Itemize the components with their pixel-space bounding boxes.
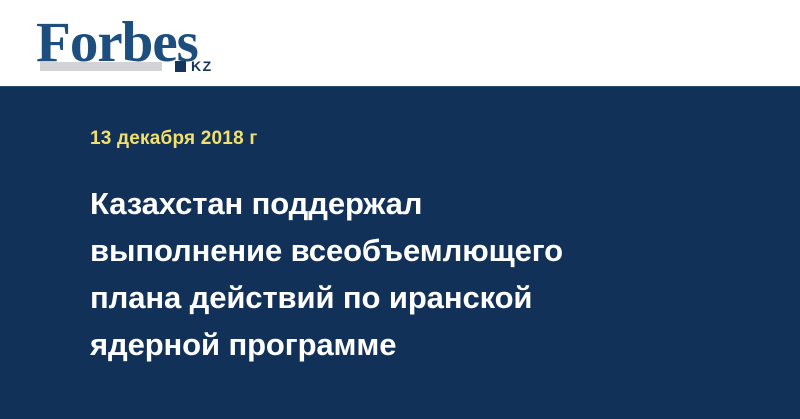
logo-underline-rule	[40, 62, 162, 71]
logo-locale-suffix: KZ	[191, 59, 213, 73]
site-header: Forbes KZ	[0, 0, 800, 87]
square-bullet-icon	[175, 61, 186, 72]
forbes-kz-logo[interactable]: Forbes KZ	[36, 14, 241, 76]
page-title-line: ядерной программе	[90, 321, 710, 368]
article-hero-page: Forbes KZ 13 декабря 2018 г Казахстан по…	[0, 0, 800, 419]
page-title: Казахстан поддержал выполнение всеобъемл…	[90, 180, 710, 368]
page-title-line: Казахстан поддержал	[90, 180, 710, 227]
page-title-line: плана действий по иранской	[90, 274, 710, 321]
page-title-line: выполнение всеобъемлющего	[90, 227, 710, 274]
article-publish-date: 13 декабря 2018 г	[90, 128, 257, 150]
article-hero: 13 декабря 2018 г Казахстан поддержал вы…	[0, 87, 800, 419]
